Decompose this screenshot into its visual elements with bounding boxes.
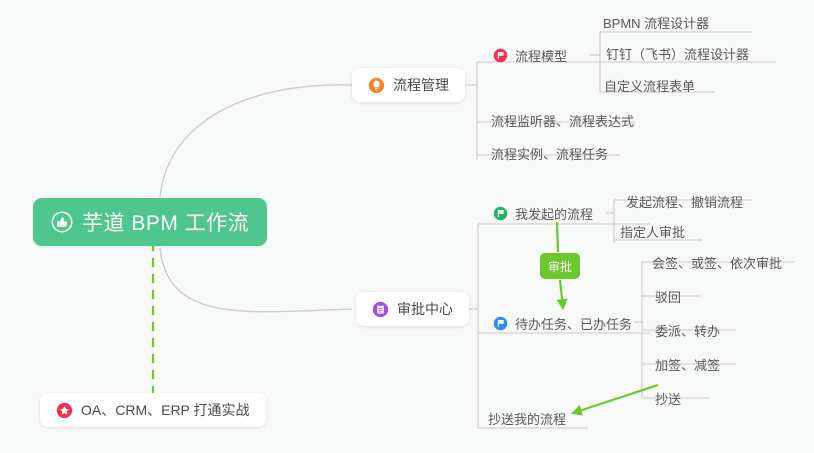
edge-root-to-approval-center bbox=[160, 248, 352, 312]
node-dingtalk-designer-label: 钉钉（飞书）流程设计器 bbox=[606, 44, 749, 63]
flag-icon bbox=[493, 316, 508, 331]
edge-root-to-process-management bbox=[160, 85, 352, 197]
node-delegate-transfer-label: 委派、转办 bbox=[655, 321, 720, 340]
node-todo-done-tasks-label: 待办任务、已办任务 bbox=[515, 314, 632, 333]
node-start-cancel-flow[interactable]: 发起流程、撤销流程 bbox=[626, 189, 743, 213]
node-cc-label: 抄送 bbox=[655, 389, 681, 408]
node-countersign-label: 会签、或签、依次审批 bbox=[652, 253, 782, 272]
node-assignee-approval-label: 指定人审批 bbox=[620, 222, 685, 241]
node-cc[interactable]: 抄送 bbox=[655, 386, 681, 410]
node-bpmn-designer[interactable]: BPMN 流程设计器 bbox=[603, 10, 709, 34]
node-bpmn-designer-label: BPMN 流程设计器 bbox=[603, 13, 709, 32]
floating-node-integration[interactable]: OA、CRM、ERP 打通实战 bbox=[40, 393, 266, 427]
mindmap-canvas: 芋道 BPM 工作流 OA、CRM、ERP 打通实战 流程管理 bbox=[0, 0, 814, 453]
root-node[interactable]: 芋道 BPM 工作流 bbox=[33, 198, 267, 246]
node-process-listener[interactable]: 流程监听器、流程表达式 bbox=[491, 108, 634, 132]
node-reject[interactable]: 驳回 bbox=[655, 284, 681, 308]
flag-icon bbox=[493, 48, 508, 63]
node-my-initiated-flows-label: 我发起的流程 bbox=[515, 204, 593, 223]
branch-approval-center-label: 审批中心 bbox=[397, 299, 453, 319]
node-delegate-transfer[interactable]: 委派、转办 bbox=[655, 318, 720, 342]
node-start-cancel-flow-label: 发起流程、撤销流程 bbox=[626, 192, 743, 211]
node-process-instance[interactable]: 流程实例、流程任务 bbox=[491, 141, 608, 165]
node-custom-form[interactable]: 自定义流程表单 bbox=[604, 73, 695, 97]
tag-approve[interactable]: 审批 bbox=[540, 253, 580, 279]
node-custom-form-label: 自定义流程表单 bbox=[604, 76, 695, 95]
node-process-model-label: 流程模型 bbox=[515, 46, 567, 65]
arrow-approve-top bbox=[557, 222, 558, 252]
star-icon bbox=[56, 402, 73, 419]
branch-approval-center[interactable]: 审批中心 bbox=[356, 292, 469, 326]
node-assignee-approval[interactable]: 指定人审批 bbox=[620, 219, 685, 243]
node-process-instance-label: 流程实例、流程任务 bbox=[491, 144, 608, 163]
clipboard-icon bbox=[372, 301, 389, 318]
tag-approve-label: 审批 bbox=[548, 258, 572, 275]
node-process-listener-label: 流程监听器、流程表达式 bbox=[491, 111, 634, 130]
node-countersign[interactable]: 会签、或签、依次审批 bbox=[652, 250, 782, 274]
node-add-remove-sign[interactable]: 加签、减签 bbox=[655, 352, 720, 376]
thumbs-up-icon bbox=[51, 211, 73, 233]
node-reject-label: 驳回 bbox=[655, 287, 681, 306]
node-cc-to-me-flows[interactable]: 抄送我的流程 bbox=[488, 406, 566, 430]
arrow-cc-to-cc-flow bbox=[573, 385, 658, 413]
branch-process-management[interactable]: 流程管理 bbox=[352, 68, 465, 102]
flag-icon bbox=[493, 206, 508, 221]
node-my-initiated-flows[interactable]: 我发起的流程 bbox=[493, 201, 593, 225]
node-add-remove-sign-label: 加签、减签 bbox=[655, 355, 720, 374]
branch-process-management-label: 流程管理 bbox=[393, 75, 449, 95]
node-todo-done-tasks[interactable]: 待办任务、已办任务 bbox=[493, 311, 632, 335]
node-cc-to-me-flows-label: 抄送我的流程 bbox=[488, 409, 566, 428]
lightbulb-icon bbox=[368, 77, 385, 94]
arrow-approve-bottom bbox=[560, 280, 563, 308]
node-dingtalk-designer[interactable]: 钉钉（飞书）流程设计器 bbox=[606, 41, 749, 65]
node-process-model[interactable]: 流程模型 bbox=[493, 43, 567, 67]
root-label: 芋道 BPM 工作流 bbox=[82, 207, 249, 237]
floating-node-label: OA、CRM、ERP 打通实战 bbox=[81, 400, 250, 420]
